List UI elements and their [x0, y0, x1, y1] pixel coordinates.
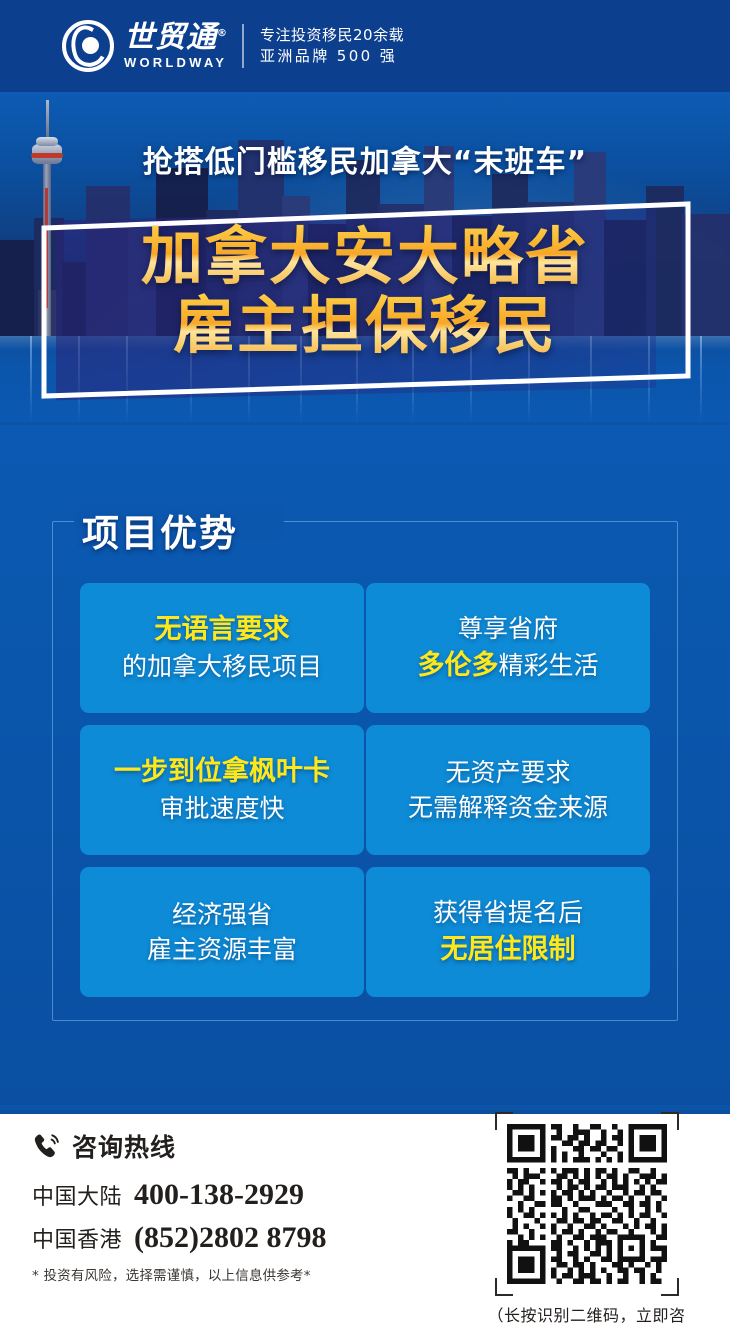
header-tagline: 专注投资移民20余载 亚洲品牌 500 强	[260, 25, 404, 68]
phone-number-value[interactable]: 400-138-2929	[134, 1178, 304, 1212]
brand-name-cn: 世贸通	[124, 20, 217, 55]
advantages-section-title: 项目优势	[82, 503, 238, 557]
qr-caption: （长按识别二维码，立即咨询）	[479, 1302, 694, 1325]
advantage-card[interactable]: 获得省提名后 无居住限制	[366, 867, 650, 997]
advantage-card[interactable]: 一步到位拿枫叶卡 审批速度快	[80, 725, 364, 855]
advantages-section: 项目优势 无语言要求 的加拿大移民项目 尊享省府 多伦多精彩生活 一步到位拿枫叶…	[0, 425, 730, 1105]
site-header: 世贸通® WORLDWAY 专注投资移民20余载 亚洲品牌 500 强	[0, 0, 730, 92]
phone-region-label: 中国大陆	[32, 1179, 122, 1211]
advantage-card-line-1: 无语言要求	[155, 612, 290, 648]
poster-root: 世贸通® WORLDWAY 专注投资移民20余载 亚洲品牌 500 强 抢搭低门…	[0, 0, 730, 1325]
qr-corner-top-right-icon	[661, 1112, 679, 1130]
brand-name-en: WORLDWAY	[124, 56, 228, 69]
hero-title-block: 加拿大安大略省 雇主担保移民	[0, 222, 730, 361]
brand-logo[interactable]: 世贸通® WORLDWAY	[62, 20, 228, 72]
phone-ringing-icon	[32, 1131, 62, 1161]
advantage-card-line-1: 获得省提名后	[433, 896, 583, 930]
qr-code-image[interactable]	[507, 1124, 667, 1284]
trademark-symbol: ®	[217, 28, 228, 39]
advantage-card[interactable]: 无资产要求 无需解释资金来源	[366, 725, 650, 855]
qr-code-block: （长按识别二维码，立即咨询）	[479, 1124, 694, 1325]
hotline-label: 咨询热线	[72, 1128, 176, 1164]
advantage-card-line-1: 无资产要求	[445, 756, 570, 790]
advantage-card-line-2: 无居住限制	[441, 932, 576, 968]
hotline-heading-row: 咨询热线	[32, 1128, 442, 1164]
advantage-card[interactable]: 经济强省 雇主资源丰富	[80, 867, 364, 997]
phone-region-label: 中国香港	[32, 1222, 122, 1254]
header-divider	[242, 24, 244, 68]
tagline-line-1: 专注投资移民20余载	[260, 25, 404, 46]
phone-row-hongkong: 中国香港 (852)2802 8798	[32, 1221, 442, 1255]
advantage-card-line-1: 经济强省	[172, 898, 272, 932]
qr-corner-top-left-icon	[495, 1112, 513, 1130]
advantage-card-line-2: 多伦多精彩生活	[417, 648, 598, 684]
phone-number-value[interactable]: (852)2802 8798	[134, 1221, 326, 1255]
advantage-card-line-1: 尊享省府	[458, 612, 558, 646]
hero-subheadline: 抢搭低门槛移民加拿大“末班车”	[0, 137, 730, 181]
phone-row-mainland: 中国大陆 400-138-2929	[32, 1178, 442, 1212]
footer-contact-bar: 咨询热线 中国大陆 400-138-2929 中国香港 (852)2802 87…	[0, 1110, 730, 1325]
advantage-card-line-2: 的加拿大移民项目	[122, 650, 322, 684]
qr-corner-bottom-left-icon	[495, 1278, 513, 1296]
advantages-card-grid: 无语言要求 的加拿大移民项目 尊享省府 多伦多精彩生活 一步到位拿枫叶卡 审批速…	[80, 583, 650, 997]
footer-top-rule	[0, 1110, 730, 1114]
advantage-card-line-1: 一步到位拿枫叶卡	[114, 754, 330, 790]
contact-info-block: 咨询热线 中国大陆 400-138-2929 中国香港 (852)2802 87…	[32, 1128, 442, 1284]
advantage-card-line-2: 无需解释资金来源	[408, 791, 608, 825]
disclaimer-text: * 投资有风险，选择需谨慎，以上信息供参考*	[32, 1264, 442, 1284]
advantage-card[interactable]: 尊享省府 多伦多精彩生活	[366, 583, 650, 713]
tagline-line-2: 亚洲品牌 500 强	[260, 46, 404, 67]
advantage-card[interactable]: 无语言要求 的加拿大移民项目	[80, 583, 364, 713]
qr-corner-bottom-right-icon	[661, 1278, 679, 1296]
advantage-card-line-2-rest: 精彩生活	[498, 651, 598, 680]
hero-title-line-2: 雇主担保移民	[0, 291, 730, 360]
advantage-card-line-2: 审批速度快	[159, 792, 284, 826]
advantage-card-line-2: 雇主资源丰富	[147, 933, 297, 967]
advantage-card-line-2-highlight: 多伦多	[417, 650, 498, 681]
worldway-spiral-logo-icon	[62, 20, 114, 72]
hero-title-line-1: 加拿大安大略省	[0, 222, 730, 291]
